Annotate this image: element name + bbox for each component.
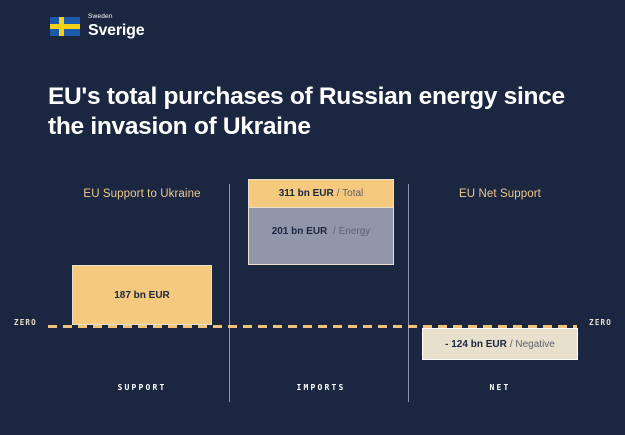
column-header-net: EU Net Support xyxy=(413,188,587,200)
column-divider-2 xyxy=(408,184,409,402)
bar-imports-energy-sub: / Energy xyxy=(333,226,370,237)
bar-imports-total: 311 bn EUR / Total xyxy=(248,179,394,208)
bar-imports-total-sub: / Total xyxy=(337,188,364,199)
bar-imports-energy: 201 bn EUR / Energy xyxy=(249,226,393,237)
chart-column-support: EU Support to Ukraine 187 bn EUR SUPPORT xyxy=(55,180,229,410)
bar-support-value: 187 bn EUR xyxy=(114,290,170,301)
column-divider-1 xyxy=(229,184,230,402)
zero-label-left: ZERO xyxy=(14,318,37,327)
chart-container: ZERO ZERO EU Support to Ukraine 187 bn E… xyxy=(0,180,625,410)
sweden-flag-icon xyxy=(50,17,80,36)
bar-imports-total-value: 311 bn EUR xyxy=(279,188,334,199)
bar-imports-stack: 311 bn EUR / Total 201 bn EUR / Energy xyxy=(248,179,394,265)
zero-label-right: ZERO xyxy=(589,318,612,327)
chart-column-imports: EU Imports from Russia 311 bn EUR / Tota… xyxy=(234,180,408,410)
chart-column-net: EU Net Support - 124 bn EUR / Negative N… xyxy=(413,180,587,410)
bar-net-negative: - 124 bn EUR / Negative xyxy=(422,328,578,360)
bar-imports-energy-value: 201 bn EUR xyxy=(272,226,328,237)
brand-label-sverige: Sverige xyxy=(88,23,144,39)
brand-label-sweden: Sweden xyxy=(88,14,144,21)
bar-net-value: - 124 bn EUR xyxy=(445,339,507,350)
column-footer-imports: IMPORTS xyxy=(234,383,408,392)
bar-support: 187 bn EUR xyxy=(72,265,212,325)
column-footer-net: NET xyxy=(413,383,587,392)
page-title: EU's total purchases of Russian energy s… xyxy=(48,82,568,142)
bar-net-sub: / Negative xyxy=(510,339,555,350)
column-header-support: EU Support to Ukraine xyxy=(55,188,229,200)
column-footer-support: SUPPORT xyxy=(55,383,229,392)
flag-cross-horizontal xyxy=(50,24,80,29)
brand-wordmark: Sweden Sverige xyxy=(88,14,144,39)
brand-logo: Sweden Sverige xyxy=(50,14,144,39)
